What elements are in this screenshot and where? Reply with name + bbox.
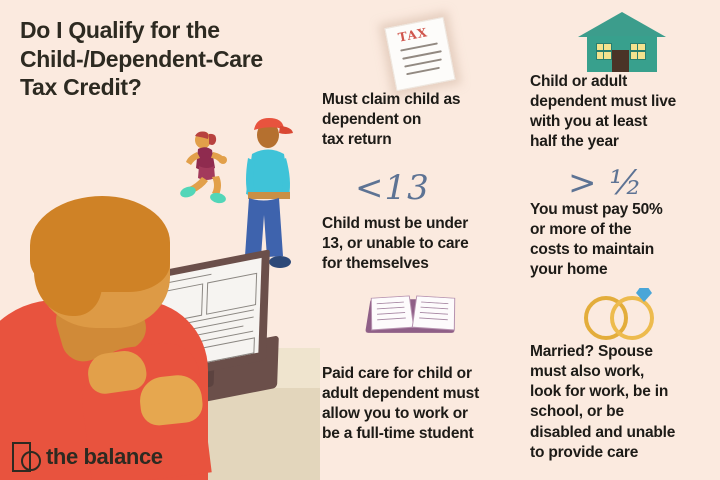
house-icon [578, 12, 666, 74]
tax-document-icon: TAX [368, 14, 476, 92]
requirement-lives-with-you: Child or adult dependent must live with … [530, 72, 716, 153]
running-child-figure [172, 130, 236, 205]
infographic-canvas: Do I Qualify for the Child-/Dependent-Ca… [0, 0, 720, 480]
more-than-half-symbol: > ½ [568, 163, 643, 203]
brand-logo: the balance [12, 442, 163, 472]
open-book-icon [362, 288, 462, 344]
illustration-scene [0, 0, 320, 480]
requirement-claim-dependent: Must claim child as dependent on tax ret… [322, 90, 517, 150]
requirement-spouse-must-work: Married? Spouse must also work, look for… [530, 342, 718, 463]
wedding-rings-icon [570, 286, 670, 342]
brand-wordmark: the balance [46, 444, 163, 470]
requirement-paid-care: Paid care for child or adult dependent m… [322, 364, 522, 445]
requirement-child-under-13: Child must be under 13, or unable to car… [322, 214, 522, 274]
desk-front-panel [196, 388, 320, 480]
square-circle-mark-icon [12, 442, 38, 472]
standing-adult-figure [236, 112, 298, 272]
requirement-pay-half-costs: You must pay 50% or more of the costs to… [530, 200, 716, 281]
under-13-symbol: <13 [355, 168, 430, 208]
